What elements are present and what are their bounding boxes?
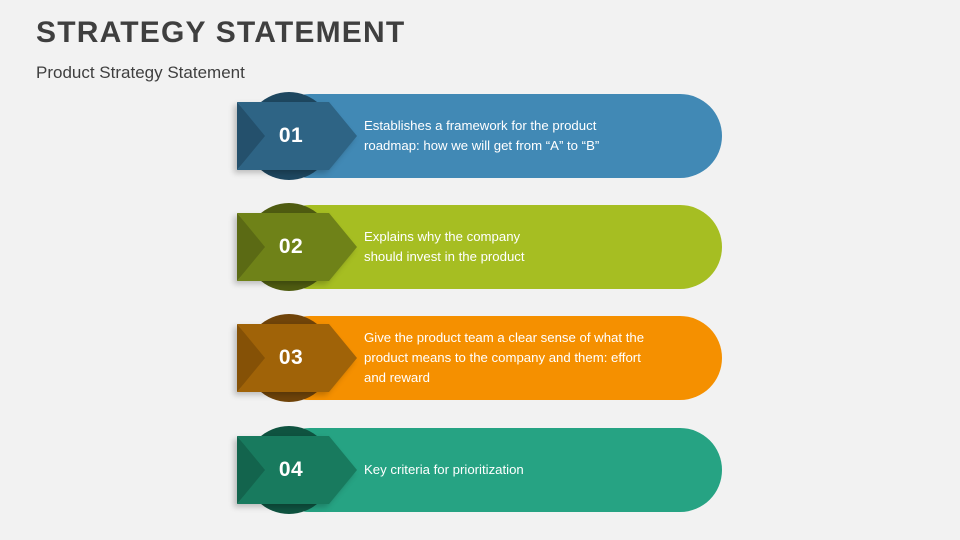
item-text-line: Explains why the company bbox=[364, 227, 694, 247]
item-text-line: and reward bbox=[364, 368, 694, 388]
list-item[interactable]: 04 Key criteria for prioritization bbox=[228, 424, 728, 516]
strategy-list: 01 Establishes a framework for the produ… bbox=[0, 0, 960, 540]
item-text: Key criteria for prioritization bbox=[364, 428, 694, 512]
item-text: Establishes a framework for the product … bbox=[364, 94, 694, 178]
list-item[interactable]: 03 Give the product team a clear sense o… bbox=[228, 312, 728, 404]
item-text-line: should invest in the product bbox=[364, 247, 694, 267]
item-ribbon-banner bbox=[237, 213, 357, 281]
list-item[interactable]: 02 Explains why the company should inves… bbox=[228, 201, 728, 293]
item-text: Explains why the company should invest i… bbox=[364, 205, 694, 289]
item-text-line: roadmap: how we will get from “A” to “B” bbox=[364, 136, 694, 156]
item-ribbon-banner bbox=[237, 102, 357, 170]
item-text-line: Give the product team a clear sense of w… bbox=[364, 328, 694, 348]
item-text-line: product means to the company and them: e… bbox=[364, 348, 694, 368]
list-item[interactable]: 01 Establishes a framework for the produ… bbox=[228, 90, 728, 182]
item-text-line: Establishes a framework for the product bbox=[364, 116, 694, 136]
item-text: Give the product team a clear sense of w… bbox=[364, 316, 694, 400]
item-ribbon-banner bbox=[237, 436, 357, 504]
item-ribbon-banner bbox=[237, 324, 357, 392]
item-text-line: Key criteria for prioritization bbox=[364, 460, 694, 480]
